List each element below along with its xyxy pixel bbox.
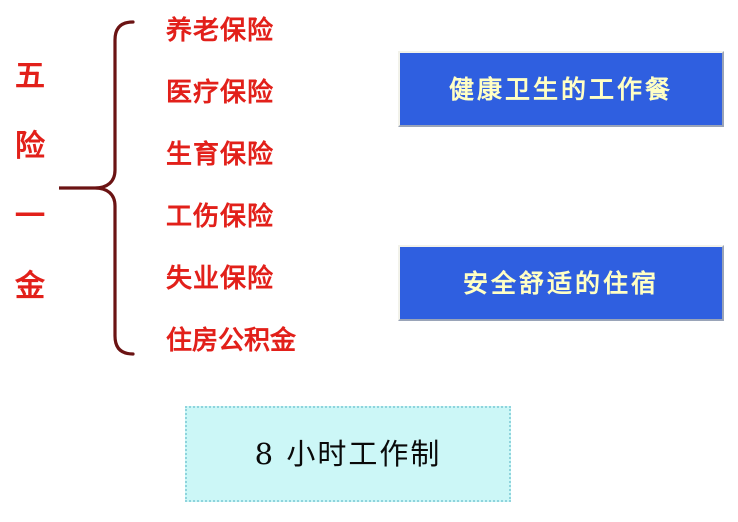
benefit-box-healthy-meals-label: 健康卫生的工作餐 [449, 77, 673, 102]
insurance-item-maternity: 生育保险 [166, 142, 274, 168]
insurance-item-medical: 医疗保险 [166, 80, 274, 106]
benefit-box-safe-housing-label: 安全舒适的住宿 [463, 271, 659, 296]
insurance-item-list: 养老保险 医疗保险 生育保险 工伤保险 失业保险 住房公积金 [166, 10, 366, 362]
insurance-item-work-injury: 工伤保险 [166, 204, 274, 230]
vertical-label-char-1: 五 [15, 62, 45, 92]
slide-canvas: 五 险 一 金 养老保险 医疗保险 生育保险 工伤保险 失业保险 住房公积金 健… [0, 0, 738, 522]
benefit-box-eight-hour-workday-label: 8 小时工作制 [255, 440, 442, 469]
vertical-label-char-3: 一 [15, 202, 45, 232]
insurance-item-unemployment: 失业保险 [166, 266, 274, 292]
curly-brace-icon [55, 18, 135, 358]
vertical-label-wuxianyijin: 五 险 一 金 [8, 62, 52, 302]
vertical-label-char-2: 险 [15, 132, 45, 162]
benefit-box-healthy-meals: 健康卫生的工作餐 [398, 51, 724, 127]
benefit-box-safe-housing: 安全舒适的住宿 [398, 245, 724, 321]
insurance-item-housing-fund: 住房公积金 [166, 328, 296, 354]
vertical-label-char-4: 金 [15, 272, 45, 302]
benefit-box-eight-hour-workday: 8 小时工作制 [185, 406, 511, 502]
insurance-item-pension: 养老保险 [166, 18, 274, 44]
